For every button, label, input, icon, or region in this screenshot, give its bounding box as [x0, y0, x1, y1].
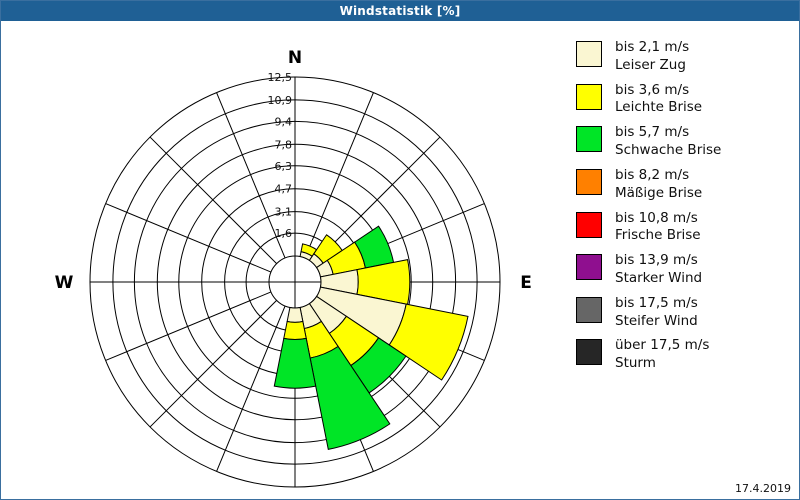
wind-sector-segment: [284, 322, 306, 340]
legend-range: bis 2,1 m/s: [615, 39, 689, 57]
grid-spoke: [150, 137, 277, 264]
cardinal-label-n: N: [288, 48, 302, 68]
legend-color-swatch: [576, 41, 602, 67]
legend-item[interactable]: bis 8,2 m/sMäßige Brise: [576, 167, 791, 203]
legend-range: über 17,5 m/s: [615, 337, 709, 355]
legend-name: Mäßige Brise: [615, 185, 702, 203]
grid-spoke: [106, 204, 271, 273]
radial-tick-label: 10,9: [268, 94, 293, 107]
legend-label: bis 10,8 m/sFrische Brise: [615, 210, 701, 246]
legend-range: bis 17,5 m/s: [615, 295, 698, 313]
legend-item[interactable]: bis 3,6 m/sLeichte Brise: [576, 82, 791, 118]
grid-spoke: [150, 300, 277, 427]
legend-name: Steifer Wind: [615, 313, 698, 331]
legend-item[interactable]: bis 17,5 m/sSteifer Wind: [576, 295, 791, 331]
radial-tick-label: 6,3: [275, 160, 293, 173]
legend-label: über 17,5 m/sSturm: [615, 337, 709, 373]
legend-name: Schwache Brise: [615, 142, 721, 160]
legend-name: Frische Brise: [615, 227, 701, 245]
legend-color-swatch: [576, 297, 602, 323]
radial-tick-label: 12,5: [268, 71, 293, 84]
window-title: Windstatistik [%]: [340, 4, 461, 18]
legend-range: bis 8,2 m/s: [615, 167, 702, 185]
legend-label: bis 5,7 m/sSchwache Brise: [615, 124, 721, 160]
wind-sector-segment: [287, 308, 303, 323]
window-content: 1,63,14,76,37,89,410,912,5NESW bis 2,1 m…: [1, 21, 799, 499]
legend-item[interactable]: bis 2,1 m/sLeiser Zug: [576, 39, 791, 75]
date-stamp: 17.4.2019: [735, 482, 791, 495]
legend-color-swatch: [576, 254, 602, 280]
legend-item[interactable]: bis 13,9 m/sStarker Wind: [576, 252, 791, 288]
legend-name: Leichte Brise: [615, 99, 702, 117]
legend-range: bis 5,7 m/s: [615, 124, 721, 142]
window-titlebar: Windstatistik [%]: [1, 1, 799, 21]
cardinal-label-e: E: [520, 273, 532, 293]
polar-grid: [90, 77, 500, 487]
legend-label: bis 17,5 m/sSteifer Wind: [615, 295, 698, 331]
grid-spoke: [305, 93, 374, 258]
windrose-window: Windstatistik [%] 1,63,14,76,37,89,410,9…: [0, 0, 800, 500]
legend-range: bis 10,8 m/s: [615, 210, 701, 228]
legend-color-swatch: [576, 84, 602, 110]
radial-tick-label: 4,7: [275, 183, 293, 196]
legend-name: Sturm: [615, 355, 709, 373]
radial-tick-label: 3,1: [275, 206, 293, 219]
windrose-chart: 1,63,14,76,37,89,410,912,5NESW: [1, 21, 561, 499]
legend-color-swatch: [576, 339, 602, 365]
radial-tick-label: 1,6: [275, 227, 293, 240]
legend-label: bis 2,1 m/sLeiser Zug: [615, 39, 689, 75]
legend-name: Leiser Zug: [615, 57, 689, 75]
windrose-svg: 1,63,14,76,37,89,410,912,5NESW: [1, 21, 561, 499]
cardinal-label-w: W: [55, 273, 74, 293]
grid-spoke: [217, 306, 286, 471]
legend-label: bis 8,2 m/sMäßige Brise: [615, 167, 702, 203]
legend-item[interactable]: über 17,5 m/sSturm: [576, 337, 791, 373]
legend-label: bis 13,9 m/sStarker Wind: [615, 252, 702, 288]
radial-tick-label: 9,4: [275, 115, 293, 128]
legend-item[interactable]: bis 5,7 m/sSchwache Brise: [576, 124, 791, 160]
legend-range: bis 13,9 m/s: [615, 252, 702, 270]
legend-color-swatch: [576, 212, 602, 238]
legend-name: Starker Wind: [615, 270, 702, 288]
legend-color-swatch: [576, 126, 602, 152]
legend-color-swatch: [576, 169, 602, 195]
legend: bis 2,1 m/sLeiser Zugbis 3,6 m/sLeichte …: [576, 39, 791, 380]
legend-item[interactable]: bis 10,8 m/sFrische Brise: [576, 210, 791, 246]
legend-range: bis 3,6 m/s: [615, 82, 702, 100]
legend-label: bis 3,6 m/sLeichte Brise: [615, 82, 702, 118]
radial-tick-label: 7,8: [275, 138, 293, 151]
grid-spoke: [106, 292, 271, 361]
